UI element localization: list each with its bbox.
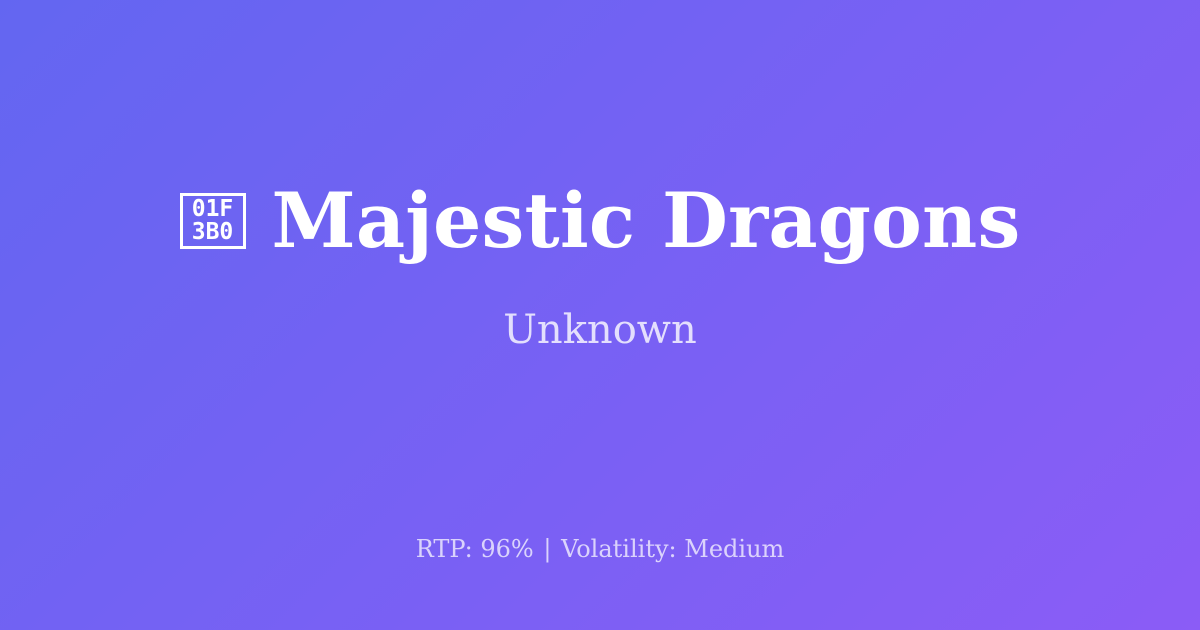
tofu-codepoint-top: 01F bbox=[192, 198, 234, 221]
meta-line: RTP: 96% | Volatility: Medium bbox=[0, 535, 1200, 564]
tofu-codepoint-bottom: 3B0 bbox=[192, 221, 234, 244]
page-title: Majestic Dragons bbox=[272, 180, 1021, 262]
volatility-value: Medium bbox=[684, 535, 784, 563]
slot-machine-emoji-missing-glyph-icon: 01F 3B0 bbox=[180, 193, 246, 249]
meta-separator: | bbox=[541, 535, 553, 563]
rtp-label: RTP: bbox=[416, 535, 473, 563]
rtp-value: 96% bbox=[480, 535, 533, 563]
volatility-label: Volatility: bbox=[561, 535, 677, 563]
title-row: 01F 3B0 Majestic Dragons bbox=[180, 180, 1021, 262]
subtitle: Unknown bbox=[503, 306, 697, 354]
og-card: 01F 3B0 Majestic Dragons Unknown RTP: 96… bbox=[0, 0, 1200, 630]
